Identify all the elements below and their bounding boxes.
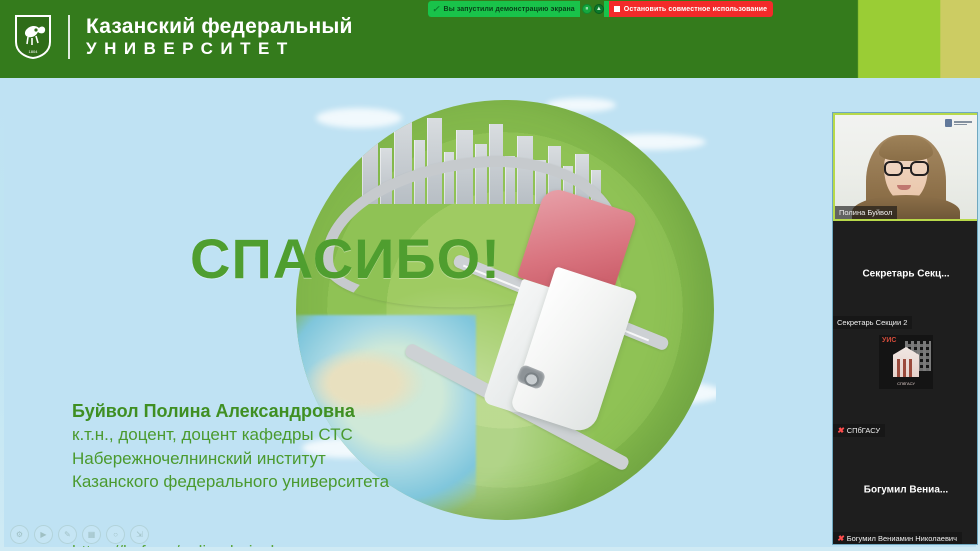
header-title-group: Казанский федеральный УНИВЕРСИТЕТ bbox=[86, 16, 353, 58]
webcam-feed bbox=[835, 115, 977, 219]
pause-circle-icon[interactable]: ⏸ bbox=[582, 4, 592, 14]
participant-name-badge: ✖ СПбГАСУ bbox=[833, 424, 885, 437]
pen-control-icon[interactable]: ✎ bbox=[58, 525, 77, 544]
avatar: УИС СПбГАСУ bbox=[879, 335, 933, 389]
stop-share-label: Остановить совместное использование bbox=[624, 6, 767, 13]
presentation-controls[interactable]: ⚙ ▶ ✎ ▦ ○ ⇲ bbox=[10, 525, 149, 544]
participant-name: СПбГАСУ bbox=[847, 426, 880, 435]
screen-root: 1804 Казанский федеральный УНИВЕРСИТЕТ ✓… bbox=[0, 0, 980, 551]
participant-name: Богумил Вениамин Николаевич bbox=[847, 534, 957, 543]
settings-control-icon[interactable]: ⚙ bbox=[10, 525, 29, 544]
participant-name-badge: ✖ Богумил Вениамин Николаевич bbox=[833, 532, 962, 545]
header-logo-group: 1804 Казанский федеральный УНИВЕРСИТЕТ bbox=[14, 14, 353, 60]
shield-circle-icon[interactable]: ▲ bbox=[594, 4, 604, 14]
zoom-share-toolbar[interactable]: ✓ Вы запустили демонстрацию экрана ⏸ ▲ О… bbox=[428, 1, 773, 17]
participant-tile-name-only[interactable]: Секретарь Секц... Секретарь Секции 2 bbox=[833, 221, 978, 329]
more-control-icon[interactable]: ○ bbox=[106, 525, 125, 544]
participant-name-badge: Полина Буйвол bbox=[835, 206, 897, 219]
author-affiliation-3: Казанского федерального университета bbox=[72, 470, 389, 493]
participants-filmstrip[interactable]: Полина Буйвол Секретарь Секц... Секретар… bbox=[832, 112, 978, 545]
avatar-top-text: УИС bbox=[882, 337, 896, 344]
participant-tile-name-only[interactable]: Богумил Вениа... ✖ Богумил Вениамин Нико… bbox=[833, 437, 978, 545]
share-status-group: ✓ Вы запустили демонстрацию экрана bbox=[428, 1, 580, 17]
author-affiliation-2: Набережночелнинский институт bbox=[72, 447, 389, 470]
presentation-slide: СПАСИБО! Буйвол Полина Александровна к.т… bbox=[4, 82, 976, 547]
participant-center-name: Богумил Вениа... bbox=[833, 484, 978, 495]
share-status-label: Вы запустили демонстрацию экрана bbox=[444, 6, 575, 13]
header-title-primary: Казанский федеральный bbox=[86, 16, 353, 38]
muted-microphone-icon: ✖ bbox=[837, 535, 844, 543]
participant-center-name: Секретарь Секц... bbox=[833, 268, 978, 279]
muted-microphone-icon: ✖ bbox=[837, 427, 844, 435]
participant-name-badge: Секретарь Секции 2 bbox=[833, 316, 912, 329]
author-affiliation-1: к.т.н., доцент, доцент кафедры СТС bbox=[72, 423, 389, 446]
participant-tile-video[interactable]: Полина Буйвол bbox=[833, 113, 978, 221]
stop-share-button[interactable]: Остановить совместное использование bbox=[609, 1, 773, 17]
avatar-bottom-text: СПбГАСУ bbox=[897, 382, 915, 386]
slide-title: СПАСИБО! bbox=[190, 226, 501, 291]
svg-text:1804: 1804 bbox=[29, 49, 39, 54]
grid-control-icon[interactable]: ▦ bbox=[82, 525, 101, 544]
play-control-icon[interactable]: ▶ bbox=[34, 525, 53, 544]
author-name: Буйвол Полина Александровна bbox=[72, 399, 389, 423]
header-title-secondary: УНИВЕРСИТЕТ bbox=[86, 40, 353, 58]
participant-tile-avatar[interactable]: УИС СПбГАСУ ✖ СПбГАСУ bbox=[833, 329, 978, 437]
author-block: Буйвол Полина Александровна к.т.н., доце… bbox=[72, 399, 389, 493]
expand-control-icon[interactable]: ⇲ bbox=[130, 525, 149, 544]
kfu-shield-icon: 1804 bbox=[14, 14, 52, 60]
background-logo-icon bbox=[945, 119, 972, 127]
glasses-icon bbox=[884, 161, 929, 176]
screen-share-icon: ✓ bbox=[432, 5, 440, 14]
header-divider bbox=[68, 15, 70, 59]
participant-name: Полина Буйвол bbox=[839, 208, 892, 217]
participant-name: Секретарь Секции 2 bbox=[837, 318, 907, 327]
stop-square-icon bbox=[614, 6, 620, 12]
